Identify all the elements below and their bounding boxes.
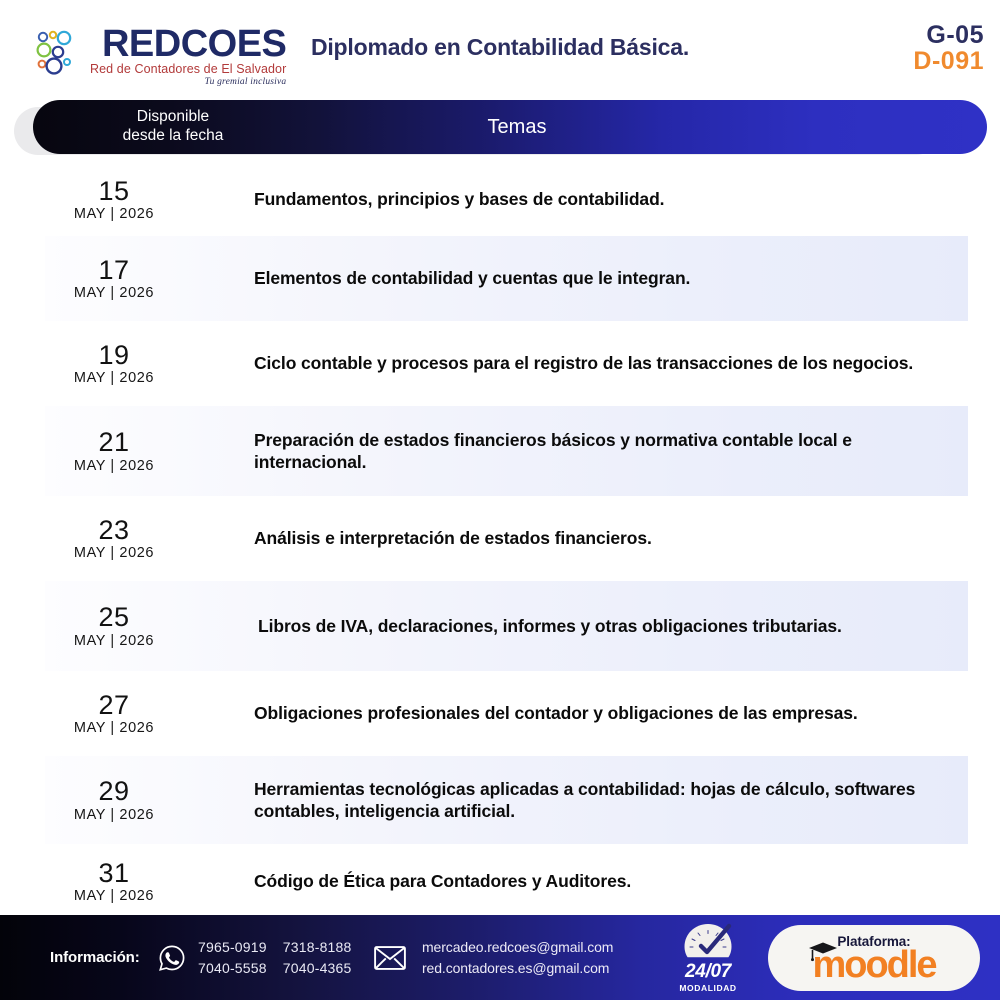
page-header: REDCOES Red de Contadores de El Salvador…: [0, 0, 1000, 95]
table-header: Temas Disponible desde la fecha: [0, 95, 1000, 163]
email-address: red.contadores.es@gmail.com: [422, 958, 613, 978]
column-header-date-line1: Disponible: [137, 108, 209, 127]
row-monthyear: MAY | 2026: [18, 370, 210, 386]
row-day: 15: [18, 177, 210, 205]
row-date: 19 MAY | 2026: [0, 341, 210, 386]
row-day: 17: [18, 256, 210, 284]
row-topic: Elementos de contabilidad y cuentas que …: [210, 267, 1000, 289]
table-row[interactable]: 29 MAY | 2026 Herramientas tecnológicas …: [0, 756, 1000, 844]
redcoes-circles-logo: [34, 28, 86, 76]
schedule-table: 15 MAY | 2026 Fundamentos, principios y …: [0, 163, 1000, 919]
table-row[interactable]: 21 MAY | 2026 Preparación de estados fin…: [0, 406, 1000, 496]
row-date: 15 MAY | 2026: [0, 177, 210, 222]
row-topic: Código de Ética para Contadores y Audito…: [210, 870, 1000, 892]
status-badge: 24/07 MODALIDAD: [668, 921, 748, 995]
moodle-logo: moodle: [812, 946, 935, 984]
info-label: Información:: [50, 949, 140, 966]
phone-number: 7318-8188: [283, 937, 352, 957]
logo-wordmark: REDCOES: [102, 26, 286, 62]
envelope-icon: [374, 946, 406, 970]
row-topic: Libros de IVA, declaraciones, informes y…: [210, 615, 1000, 637]
diploma-code: D-091: [913, 48, 984, 74]
row-monthyear: MAY | 2026: [18, 206, 210, 222]
row-monthyear: MAY | 2026: [18, 807, 210, 823]
phone-column-1: 7965-0919 7040-5558: [198, 937, 267, 978]
platform-badge[interactable]: Plataforma: moodle: [768, 925, 980, 991]
email-addresses: mercadeo.redcoes@gmail.com red.contadore…: [422, 937, 613, 978]
email-address: mercadeo.redcoes@gmail.com: [422, 937, 613, 957]
phone-column-2: 7318-8188 7040-4365: [283, 937, 352, 978]
row-day: 27: [18, 691, 210, 719]
speedometer-check-icon: [681, 921, 735, 961]
badge-caption: MODALIDAD: [679, 983, 736, 993]
table-row[interactable]: 25 MAY | 2026 Libros de IVA, declaracion…: [0, 581, 1000, 671]
row-topic: Preparación de estados financieros básic…: [210, 429, 1000, 474]
row-date: 25 MAY | 2026: [0, 603, 210, 648]
page-footer: Información: 7965-0919 7040-5558 7318-81…: [0, 915, 1000, 1000]
row-monthyear: MAY | 2026: [18, 720, 210, 736]
row-date: 27 MAY | 2026: [0, 691, 210, 736]
row-day: 21: [18, 428, 210, 456]
table-row[interactable]: 23 MAY | 2026 Análisis e interpretación …: [0, 496, 1000, 581]
badge-number: 24/07: [685, 962, 731, 981]
row-date: 17 MAY | 2026: [0, 256, 210, 301]
logo-tagline: Tu gremial inclusiva: [205, 77, 287, 87]
table-row[interactable]: 17 MAY | 2026 Elementos de contabilidad …: [0, 236, 1000, 321]
row-monthyear: MAY | 2026: [18, 888, 210, 904]
row-topic: Obligaciones profesionales del contador …: [210, 702, 1000, 724]
row-date: 31 MAY | 2026: [0, 859, 210, 904]
phone-number: 7040-5558: [198, 958, 267, 978]
logo-subtitle: Red de Contadores de El Salvador: [90, 63, 286, 76]
table-row[interactable]: 31 MAY | 2026 Código de Ética para Conta…: [0, 844, 1000, 919]
graduation-cap-icon: [806, 940, 840, 962]
row-topic: Fundamentos, principios y bases de conta…: [210, 188, 1000, 210]
phone-number: 7040-4365: [283, 958, 352, 978]
row-monthyear: MAY | 2026: [18, 633, 210, 649]
course-code-block: G-05 D-091: [913, 22, 984, 75]
row-monthyear: MAY | 2026: [18, 545, 210, 561]
redcoes-logo: REDCOES Red de Contadores de El Salvador…: [34, 26, 286, 87]
row-topic: Herramientas tecnológicas aplicadas a co…: [210, 778, 1000, 823]
row-date: 29 MAY | 2026: [0, 777, 210, 822]
column-header-date: Disponible desde la fecha: [78, 100, 268, 154]
phone-number: 7965-0919: [198, 937, 267, 957]
row-date: 21 MAY | 2026: [0, 428, 210, 473]
row-day: 29: [18, 777, 210, 805]
row-date: 23 MAY | 2026: [0, 516, 210, 561]
row-monthyear: MAY | 2026: [18, 458, 210, 474]
row-day: 19: [18, 341, 210, 369]
table-row[interactable]: 19 MAY | 2026 Ciclo contable y procesos …: [0, 321, 1000, 406]
row-topic: Análisis e interpretación de estados fin…: [210, 527, 1000, 549]
row-day: 23: [18, 516, 210, 544]
whatsapp-icon: [158, 944, 186, 972]
group-code: G-05: [913, 22, 984, 48]
header-pill: Temas Disponible desde la fecha: [33, 100, 987, 154]
row-day: 25: [18, 603, 210, 631]
column-header-date-line2: desde la fecha: [123, 127, 224, 146]
phone-numbers: 7965-0919 7040-5558 7318-8188 7040-4365: [198, 937, 352, 978]
row-topic: Ciclo contable y procesos para el regist…: [210, 352, 1000, 374]
row-monthyear: MAY | 2026: [18, 285, 210, 301]
table-row[interactable]: 27 MAY | 2026 Obligaciones profesionales…: [0, 671, 1000, 756]
table-row[interactable]: 15 MAY | 2026 Fundamentos, principios y …: [0, 163, 1000, 236]
row-day: 31: [18, 859, 210, 887]
